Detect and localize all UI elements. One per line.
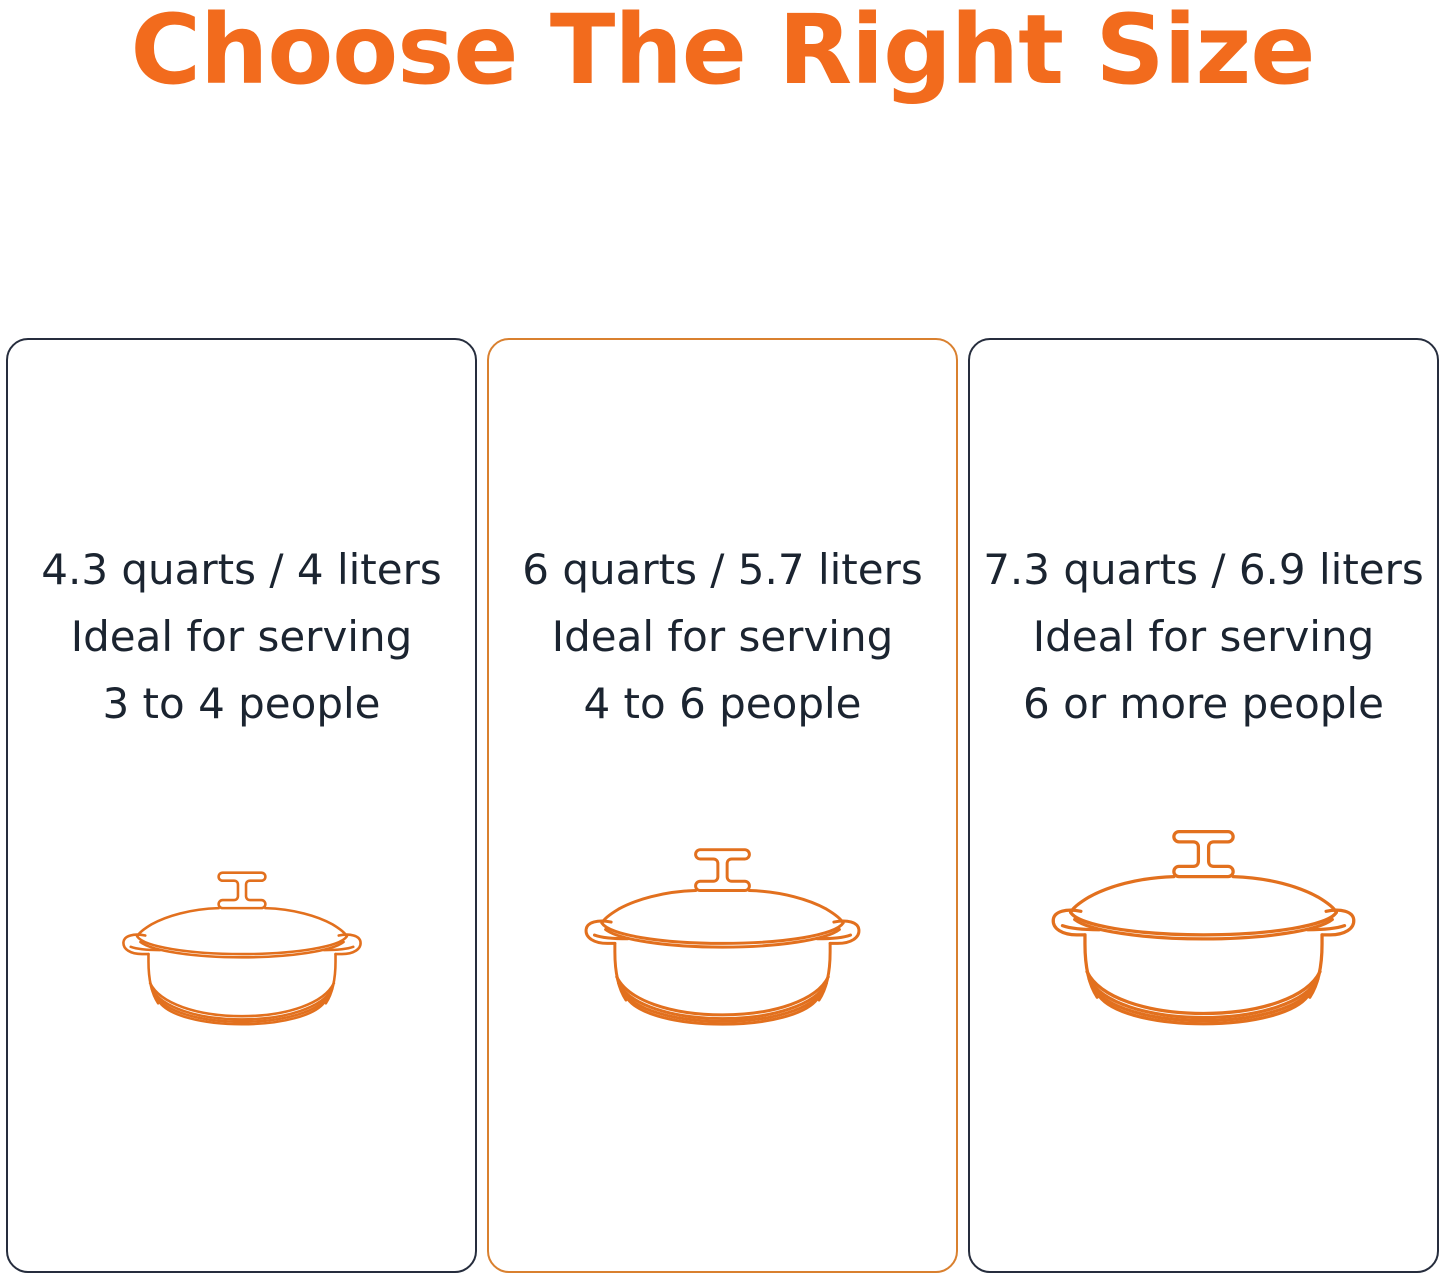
size-card-large-text: 7.3 quarts / 6.9 liters Ideal for servin… <box>970 536 1437 737</box>
size-card-medium[interactable]: 6 quarts / 5.7 liters Ideal for serving … <box>487 338 958 1273</box>
capacity-label: 4.3 quarts / 4 liters <box>8 536 475 603</box>
serving-count-label: 6 or more people <box>970 670 1437 737</box>
serving-label: Ideal for serving <box>8 603 475 670</box>
capacity-label: 6 quarts / 5.7 liters <box>489 536 956 603</box>
size-card-small-text: 4.3 quarts / 4 liters Ideal for serving … <box>8 536 475 737</box>
page-title: Choose The Right Size <box>0 0 1445 102</box>
serving-count-label: 4 to 6 people <box>489 670 956 737</box>
serving-label: Ideal for serving <box>489 603 956 670</box>
dutch-oven-icon <box>113 858 371 1026</box>
size-card-small[interactable]: 4.3 quarts / 4 liters Ideal for serving … <box>6 338 477 1273</box>
size-guide-infographic: Choose The Right Size 4.3 quarts / 4 lit… <box>0 0 1445 1281</box>
size-card-list: 4.3 quarts / 4 liters Ideal for serving … <box>6 338 1439 1273</box>
size-card-large[interactable]: 7.3 quarts / 6.9 liters Ideal for servin… <box>968 338 1439 1273</box>
dutch-oven-illustration-wrap <box>970 751 1437 1271</box>
dutch-oven-icon <box>1040 813 1367 1026</box>
serving-count-label: 3 to 4 people <box>8 670 475 737</box>
capacity-label: 7.3 quarts / 6.9 liters <box>970 536 1437 603</box>
serving-label: Ideal for serving <box>970 603 1437 670</box>
dutch-oven-icon <box>574 833 871 1026</box>
dutch-oven-illustration-wrap <box>489 751 956 1271</box>
dutch-oven-illustration-wrap <box>8 751 475 1271</box>
size-card-medium-text: 6 quarts / 5.7 liters Ideal for serving … <box>489 536 956 737</box>
